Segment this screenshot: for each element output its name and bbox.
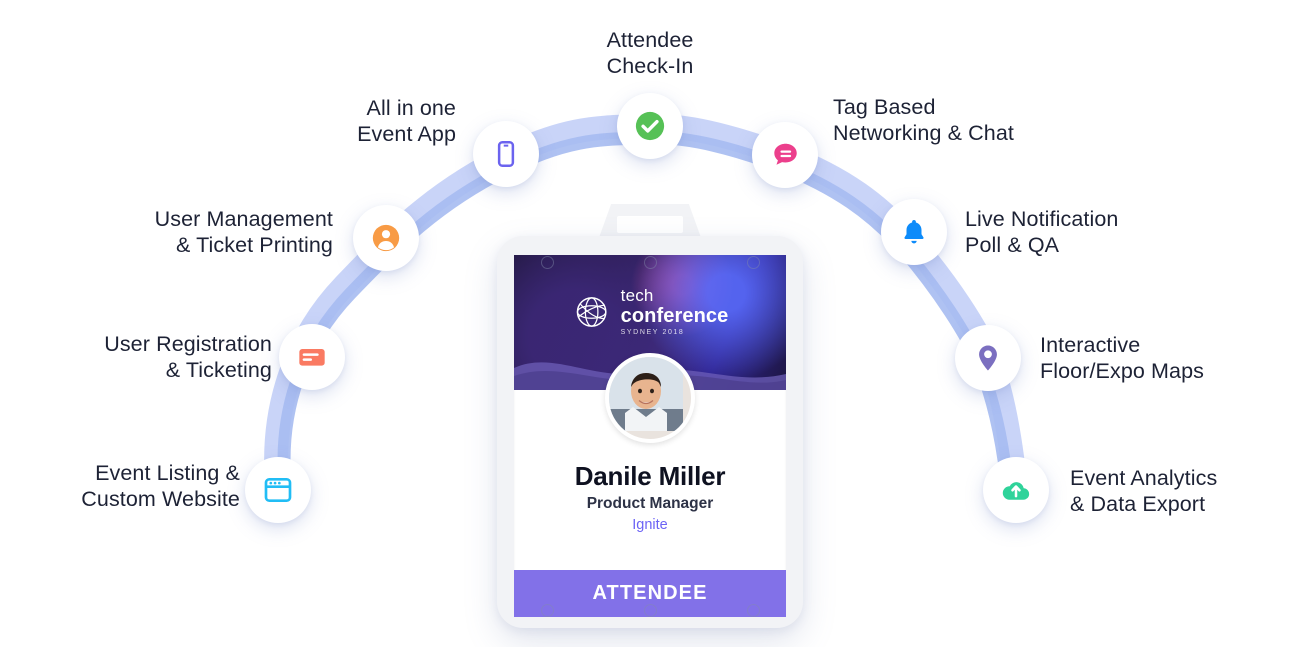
badge-footer-label: ATTENDEE — [592, 582, 707, 605]
badge-hole — [747, 256, 760, 269]
conference-logo: tech conference SYDNEY 2018 — [572, 287, 729, 336]
map-pin-icon — [972, 342, 1004, 374]
node-live-notification[interactable] — [881, 199, 947, 265]
attendee-name: Danile Miller — [514, 461, 786, 492]
user-circle-icon — [369, 221, 403, 255]
label-event-app: All in one Event App — [300, 95, 456, 147]
attendee-avatar — [605, 353, 695, 443]
check-circle-icon — [632, 108, 668, 144]
conference-line3: SYDNEY 2018 — [621, 329, 729, 336]
label-live-notification: Live Notification Poll & QA — [965, 206, 1205, 258]
ticket-card-icon — [296, 341, 328, 373]
conference-line1: tech — [621, 287, 729, 304]
smartphone-icon — [491, 139, 521, 169]
badge-hole — [644, 604, 657, 617]
chat-bubble-icon — [769, 139, 801, 171]
node-user-management[interactable] — [353, 205, 419, 271]
label-event-listing: Event Listing & Custom Website — [20, 460, 240, 512]
node-event-app[interactable] — [473, 121, 539, 187]
bell-icon — [899, 217, 929, 247]
node-tag-networking[interactable] — [752, 122, 818, 188]
label-event-analytics: Event Analytics & Data Export — [1070, 465, 1300, 517]
attendee-org: Ignite — [514, 517, 786, 533]
label-tag-networking: Tag Based Networking & Chat — [833, 94, 1093, 146]
badge-hole — [541, 604, 554, 617]
node-event-analytics[interactable] — [983, 457, 1049, 523]
label-interactive-maps: Interactive Floor/Expo Maps — [1040, 332, 1290, 384]
attendee-role: Product Manager — [514, 495, 786, 513]
globe-network-icon — [572, 292, 612, 332]
node-user-registration[interactable] — [279, 324, 345, 390]
infographic-canvas: Event Listing & Custom Website User Regi… — [0, 0, 1300, 647]
label-user-management: User Management & Ticket Printing — [60, 206, 333, 258]
node-event-listing[interactable] — [245, 457, 311, 523]
browser-window-icon — [262, 474, 294, 506]
cloud-upload-icon — [1000, 474, 1032, 506]
label-user-registration: User Registration & Ticketing — [20, 331, 272, 383]
conference-line2: conference — [621, 306, 729, 326]
badge-hole — [644, 256, 657, 269]
badge-hole — [541, 256, 554, 269]
avatar-photo — [609, 357, 683, 431]
badge-clip-slot — [617, 216, 683, 233]
badge-card: tech conference SYDNEY 2018 Danile Mill — [514, 255, 786, 617]
node-attendee-check-in[interactable] — [617, 93, 683, 159]
node-interactive-maps[interactable] — [955, 325, 1021, 391]
label-attendee-check-in: Attendee Check-In — [540, 27, 760, 79]
badge-hole — [747, 604, 760, 617]
